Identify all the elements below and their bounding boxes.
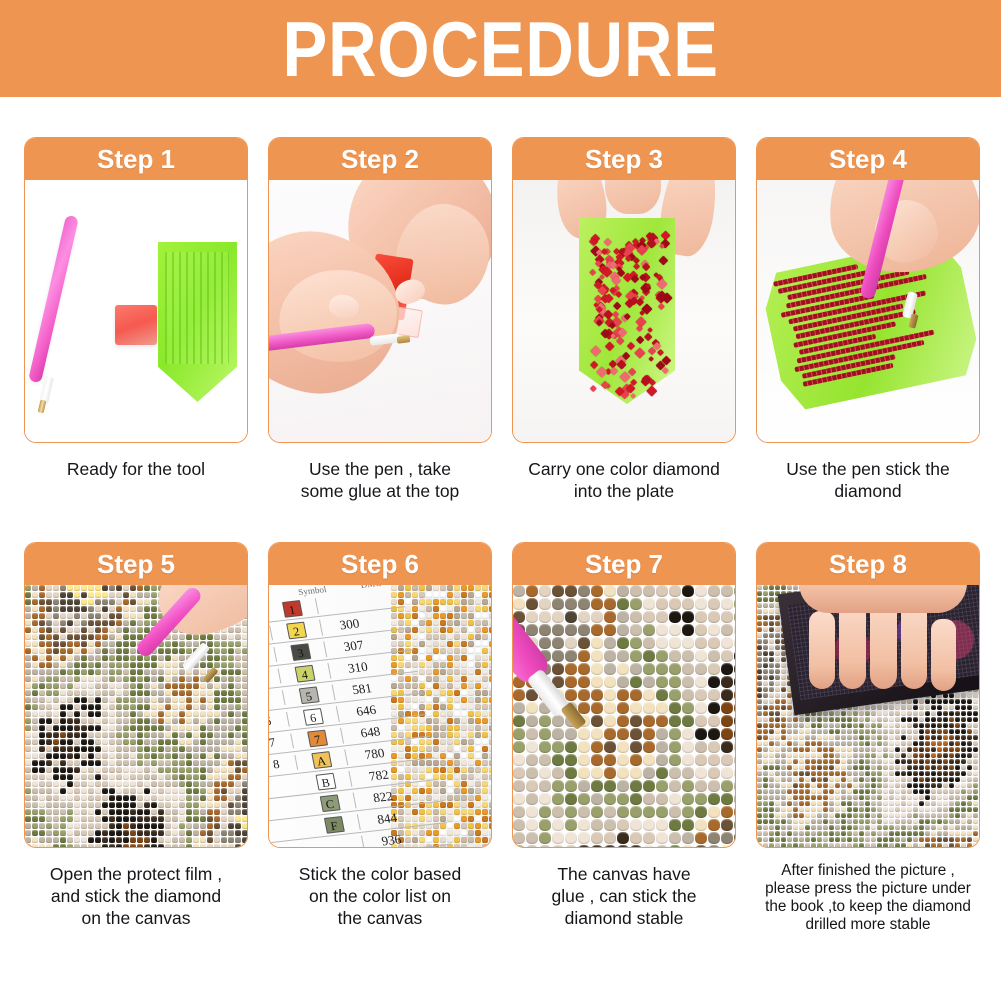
- pen-metal-tip-icon: [38, 399, 47, 413]
- color-list-illustration: No.SymbolDMC1122300333074431055581666467…: [269, 585, 491, 847]
- step-card-7: Step 7 The canvas have glue , can stick …: [512, 542, 736, 934]
- step-card-6: Step 6 No.SymbolDMC112230033307443105558…: [268, 542, 492, 934]
- step-6-caption: Stick the color based on the color list …: [268, 864, 492, 930]
- step-4-card: Step 4: [756, 137, 980, 443]
- step-2-caption: Use the pen , take some glue at the top: [268, 459, 492, 503]
- steps-row-1: Step 1 Ready for the tool: [0, 137, 1001, 503]
- step-1-card: Step 1: [24, 137, 248, 443]
- finger-icon: [605, 180, 661, 214]
- step-4-caption: Use the pen stick the diamond: [756, 459, 980, 503]
- step-6-image: No.SymbolDMC1122300333074431055581666467…: [269, 585, 491, 847]
- step-card-2: Step 2: [268, 137, 492, 503]
- step-card-8: Step 8 After finished the picture , plea…: [756, 542, 980, 934]
- step-2-card: Step 2: [268, 137, 492, 443]
- step-3-card: Step 3: [512, 137, 736, 443]
- step-5-caption: Open the protect film , and stick the di…: [24, 864, 248, 930]
- step-8-header: Step 8: [757, 543, 979, 585]
- step-4-header-label: Step 4: [829, 146, 907, 172]
- page-title: PROCEDURE: [282, 10, 718, 88]
- step-3-header: Step 3: [513, 138, 735, 180]
- step-4-header: Step 4: [757, 138, 979, 180]
- step-7-caption: The canvas have glue , can stick the dia…: [512, 864, 736, 930]
- step-5-image: [25, 585, 247, 847]
- step-2-header: Step 2: [269, 138, 491, 180]
- step-8-image: [757, 585, 979, 847]
- step-card-5: Step 5 Open the protect film , and stick…: [24, 542, 248, 934]
- glue-canvas-macro-illustration: [513, 585, 735, 847]
- step-card-1: Step 1 Ready for the tool: [24, 137, 248, 503]
- step-3-header-label: Step 3: [585, 146, 663, 172]
- pen-metal-tip-icon: [397, 335, 411, 344]
- step-7-header: Step 7: [513, 543, 735, 585]
- press-book-illustration: [757, 585, 979, 847]
- step-2-header-label: Step 2: [341, 146, 419, 172]
- tray-grooves-icon: [165, 252, 229, 364]
- red-diamonds-icon: [579, 224, 675, 396]
- step-card-3: Step 3 Carry one color diamond into the …: [512, 137, 736, 503]
- step-6-header: Step 6: [269, 543, 491, 585]
- step-8-header-label: Step 8: [829, 551, 907, 577]
- step-6-header-label: Step 6: [341, 551, 419, 577]
- step-7-image: [513, 585, 735, 847]
- step-7-header-label: Step 7: [585, 551, 663, 577]
- steps-grid: Step 1 Ready for the tool: [0, 137, 1001, 934]
- step-8-card: Step 8: [756, 542, 980, 848]
- glue-dipping-illustration: [269, 180, 491, 442]
- pen-picking-diamond-illustration: [757, 180, 979, 442]
- glue-square-icon: [115, 305, 157, 345]
- step-1-caption: Ready for the tool: [24, 459, 248, 481]
- step-5-card: Step 5: [24, 542, 248, 848]
- step-5-header: Step 5: [25, 543, 247, 585]
- step-3-image: [513, 180, 735, 442]
- canvas-sticking-illustration: [25, 585, 247, 847]
- step-6-card: Step 6 No.SymbolDMC112230033307443105558…: [268, 542, 492, 848]
- step-1-header-label: Step 1: [97, 146, 175, 172]
- step-7-card: Step 7: [512, 542, 736, 848]
- step-2-image: [269, 180, 491, 442]
- pink-pen-icon: [28, 215, 79, 384]
- step-3-caption: Carry one color diamond into the plate: [512, 459, 736, 503]
- step-1-header: Step 1: [25, 138, 247, 180]
- tool-set-illustration: [25, 180, 247, 442]
- step-8-caption: After finished the picture , please pres…: [756, 862, 980, 934]
- step-1-image: [25, 180, 247, 442]
- page-header-banner: PROCEDURE: [0, 0, 1001, 97]
- step-4-image: [757, 180, 979, 442]
- step-card-4: Step 4 Use the pen stick the diamond: [756, 137, 980, 503]
- diamond-canvas-mosaic: [513, 585, 735, 847]
- step-5-header-label: Step 5: [97, 551, 175, 577]
- tray-with-diamonds-illustration: [513, 180, 735, 442]
- steps-row-2: Step 5 Open the protect film , and stick…: [0, 542, 1001, 934]
